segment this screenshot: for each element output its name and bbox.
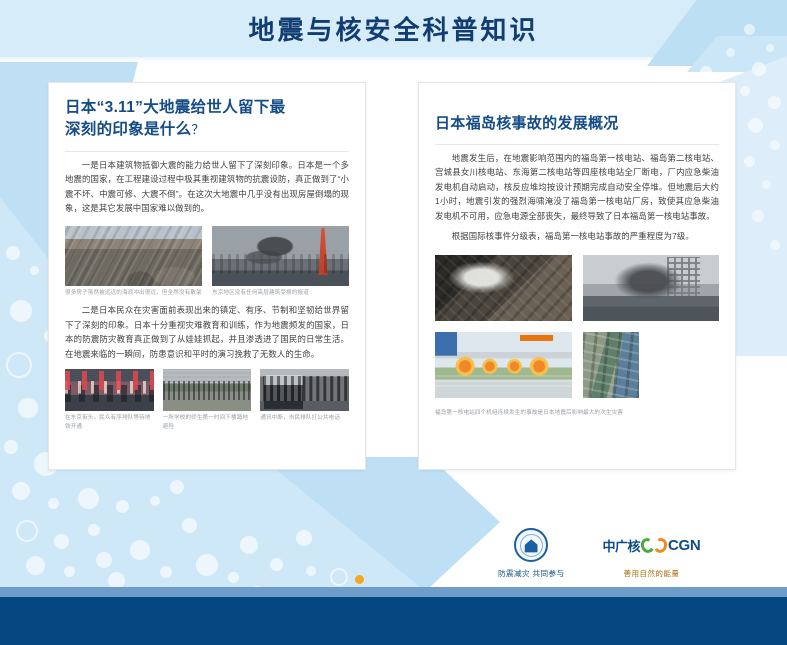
page-title: 地震与核安全科普知识	[0, 10, 787, 47]
bubble-decoration	[752, 210, 764, 222]
bubble-decoration	[726, 48, 735, 57]
bubble-decoration	[118, 592, 133, 607]
panel-card-right: 日本福岛核事故的发展概况 地震发生后，在地震影响范围内的福岛第一核电站、福岛第二…	[418, 82, 736, 470]
panel-left-figure-row-1: 很多房子虽然被远远的海浪冲出很远，但全然没有散架 东京地区没有任何高层建筑受损的…	[65, 226, 349, 298]
bubble-decoration	[202, 592, 212, 602]
bubble-decoration	[286, 592, 297, 603]
image-grid-caption: 福岛第一核电站四个机组连续发生的事故是日本地震后影响最大的次生灾害	[435, 409, 719, 418]
panel-left-paragraph-2: 二是日本民众在灾害面前表现出来的镇定、有序、节制和坚韧给世界留下了深刻的印象。日…	[65, 303, 349, 361]
panel-left-title-wrap: 日本“3.11”大地震给世人留下最 深刻的印象是什么？	[65, 97, 349, 142]
bubble-decoration	[768, 96, 781, 109]
bubble-decoration	[16, 520, 38, 542]
fukushima-aerial-explosion-photo	[435, 255, 572, 321]
bubble-decoration	[160, 566, 172, 578]
bubble-decoration	[26, 556, 45, 575]
disaster-prevention-emblem-icon	[514, 528, 548, 562]
fukushima-four-units-diagram	[435, 332, 572, 398]
bubble-decoration	[6, 246, 20, 260]
bubble-decoration	[270, 558, 283, 571]
bubble-decoration	[30, 266, 39, 275]
bubble-decoration	[762, 180, 771, 189]
orange-accent-dot	[355, 575, 364, 584]
figure	[435, 332, 572, 398]
figure: 通讯中断，市民排队打公共电话	[260, 369, 349, 431]
panel-left-title-line2: 深刻的印象是什么	[65, 121, 191, 138]
tsunami-debris-photo	[65, 226, 202, 286]
bubble-decoration	[48, 498, 59, 509]
bubble-decoration	[130, 540, 150, 560]
figure-caption: 在东京街头，民众有序排队等待地铁开通	[65, 414, 154, 431]
bubble-decoration	[770, 240, 780, 250]
footer-logo-area: 防震减灾 共同参与 中广核 CGN 善用自然的能量	[498, 528, 736, 580]
bubble-decoration	[740, 86, 750, 96]
bubble-decoration	[78, 488, 99, 509]
bubble-decoration	[108, 572, 125, 589]
figure: 一所学校的师生第一时间下楼蹲地避险	[163, 369, 252, 431]
cgn-logo-caption: 善用自然的能量	[602, 568, 700, 579]
decorative-band-bottom-2	[0, 457, 420, 587]
bubble-decoration	[116, 500, 129, 513]
bubble-decoration	[6, 352, 32, 378]
poster-canvas: 地震与核安全科普知识 日本“3.11”大地震给世人留下最 深刻的印象是什么？ 一…	[0, 0, 787, 645]
panel-right-title: 日本福岛核事故的发展概况	[435, 113, 719, 135]
image-grid-row	[435, 332, 719, 398]
fukushima-site-satellite-photo	[583, 332, 639, 398]
bubble-decoration	[240, 536, 258, 554]
bubble-decoration	[196, 554, 218, 576]
figure-caption: 很多房子虽然被远远的海浪冲出很远，但全然没有散架	[65, 289, 202, 298]
title-divider	[65, 151, 349, 152]
tokyo-street-crowd-photo	[65, 369, 154, 411]
figure: 很多房子虽然被远远的海浪冲出很远，但全然没有散架	[65, 226, 202, 298]
bubble-decoration	[306, 566, 316, 576]
cgn-logo-icon: 中广核 CGN	[602, 528, 700, 562]
bubble-decoration	[228, 572, 239, 583]
bubble-decoration	[96, 552, 112, 568]
tokyo-tower-smoke-photo	[212, 226, 349, 286]
bubble-decoration	[12, 482, 30, 500]
bubble-decoration	[150, 496, 160, 506]
image-grid-row	[435, 255, 719, 321]
fukushima-reactor-smoke-photo	[583, 255, 720, 321]
figure-caption: 一所学校的师生第一时间下楼蹲地避险	[163, 414, 252, 431]
bubble-decoration	[18, 398, 38, 418]
bubble-decoration	[60, 592, 72, 604]
header-band-fade	[0, 57, 787, 62]
bubble-decoration	[4, 440, 18, 454]
bubble-decoration	[64, 566, 75, 577]
title-divider	[435, 144, 719, 145]
bubble-decoration	[250, 586, 264, 600]
footer-bar	[0, 597, 787, 645]
footer-strip	[0, 587, 787, 597]
panel-right-paragraph-2: 根据国际核事件分级表，福岛第一核电站事故的严重程度为7级。	[435, 229, 719, 243]
cgn-wordmark-cn: 中广核	[602, 536, 640, 555]
bubble-decoration	[330, 568, 348, 586]
bubble-decoration	[770, 140, 780, 150]
bubble-decoration	[700, 66, 712, 78]
panel-right-image-grid: 福岛第一核电站四个机组连续发生的事故是日本地震后影响最大的次生灾害	[435, 255, 719, 418]
decorative-band-bottom-1	[0, 457, 500, 587]
figure: 在东京街头，民众有序排队等待地铁开通	[65, 369, 154, 431]
school-students-shelter-photo	[163, 369, 252, 411]
panel-left-paragraph-1: 一是日本建筑物抵御大震的能力给世人留下了深刻印象。日本是一个多地震的国家，在工程…	[65, 158, 349, 216]
cgn-wordmark-en: CGN	[668, 537, 700, 554]
bubble-decoration	[748, 118, 763, 133]
figure-caption: 东京地区没有任何高层建筑受损的报道	[212, 289, 349, 298]
panel-right-paragraph-1: 地震发生后，在地震影响范围内的福岛第一核电站、福岛第二核电站、宫城县女川核电站、…	[435, 151, 719, 223]
bubble-decoration	[752, 62, 766, 76]
figure	[583, 332, 720, 398]
panel-left-title-line1: 日本“3.11”大地震给世人留下最	[65, 99, 285, 116]
panel-left-figure-row-2: 在东京街头，民众有序排队等待地铁开通 一所学校的师生第一时间下楼蹲地避险 通讯中…	[65, 369, 349, 431]
bubble-decoration	[10, 300, 32, 322]
bubble-decoration	[54, 534, 69, 549]
panel-card-left: 日本“3.11”大地震给世人留下最 深刻的印象是什么？ 一是日本建筑物抵御大震的…	[48, 82, 366, 470]
figure: 东京地区没有任何高层建筑受损的报道	[212, 226, 349, 298]
bubble-decoration	[744, 156, 755, 167]
figure-caption: 通讯中断，市民排队打公共电话	[260, 414, 349, 423]
cgn-logo-block: 中广核 CGN 善用自然的能量	[602, 528, 700, 579]
bubble-decoration	[170, 480, 184, 494]
disaster-prevention-logo-caption: 防震减灾 共同参与	[498, 568, 564, 579]
bubble-decoration	[296, 530, 312, 546]
figure	[435, 255, 572, 321]
public-phone-queue-photo	[260, 369, 349, 411]
panel-right-title-wrap: 日本福岛核事故的发展概况	[435, 97, 719, 135]
disaster-prevention-logo-block: 防震减灾 共同参与	[498, 528, 564, 579]
cgn-swoosh-icon	[641, 537, 667, 554]
bubble-decoration	[182, 518, 197, 533]
panel-left-title: 日本“3.11”大地震给世人留下最 深刻的印象是什么？	[65, 97, 349, 142]
bubble-decoration	[88, 524, 100, 536]
figure	[583, 255, 720, 321]
panel-left-title-question-mark: ？	[191, 122, 204, 137]
